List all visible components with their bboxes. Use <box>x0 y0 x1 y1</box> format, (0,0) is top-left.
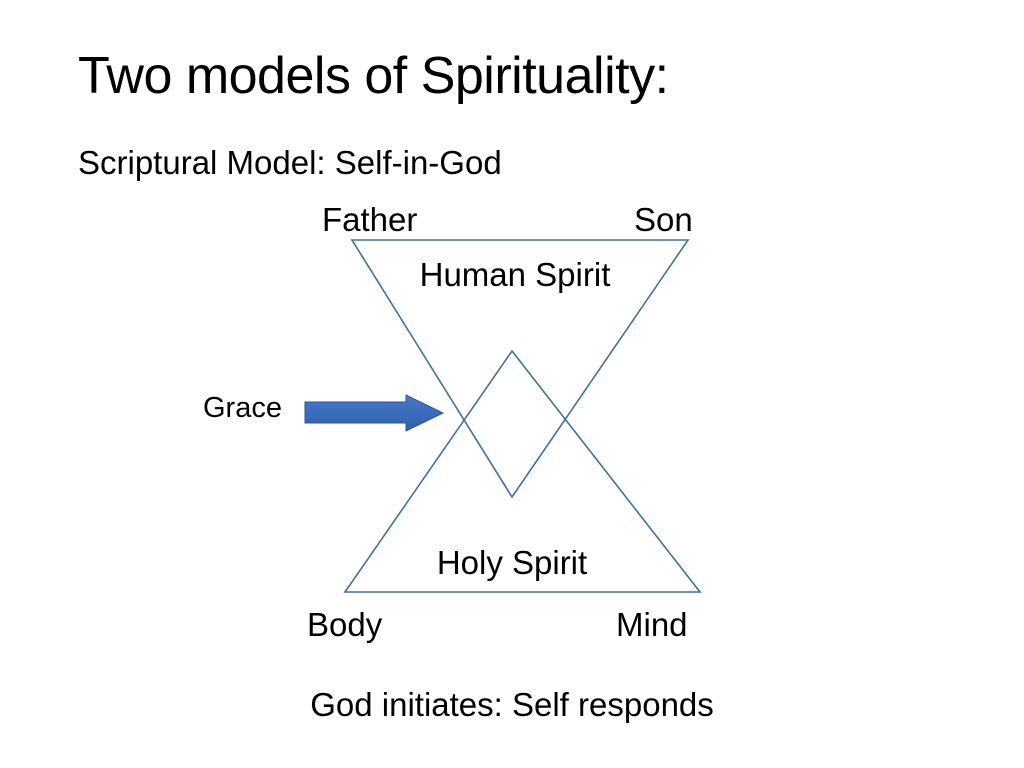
diagram-label-human-spirit: Human Spirit <box>3 258 1024 291</box>
diagram-label-body: Body <box>307 608 382 641</box>
diagram-label-son: Son <box>634 203 693 236</box>
grace-arrow-icon <box>305 395 443 431</box>
diagram-label-mind: Mind <box>616 608 688 641</box>
slide-canvas: Two models of Spirituality: Scriptural M… <box>0 0 1024 768</box>
diagram-shapes <box>0 0 1024 768</box>
slide-caption: God initiates: Self responds <box>0 686 1024 724</box>
diagram-label-holy-spirit: Holy Spirit <box>0 546 1024 579</box>
diagram-label-grace: Grace <box>203 394 282 423</box>
diagram-label-father: Father <box>322 203 417 236</box>
spirituality-diagram: Father Son Human Spirit Holy Spirit Body… <box>0 0 1024 768</box>
